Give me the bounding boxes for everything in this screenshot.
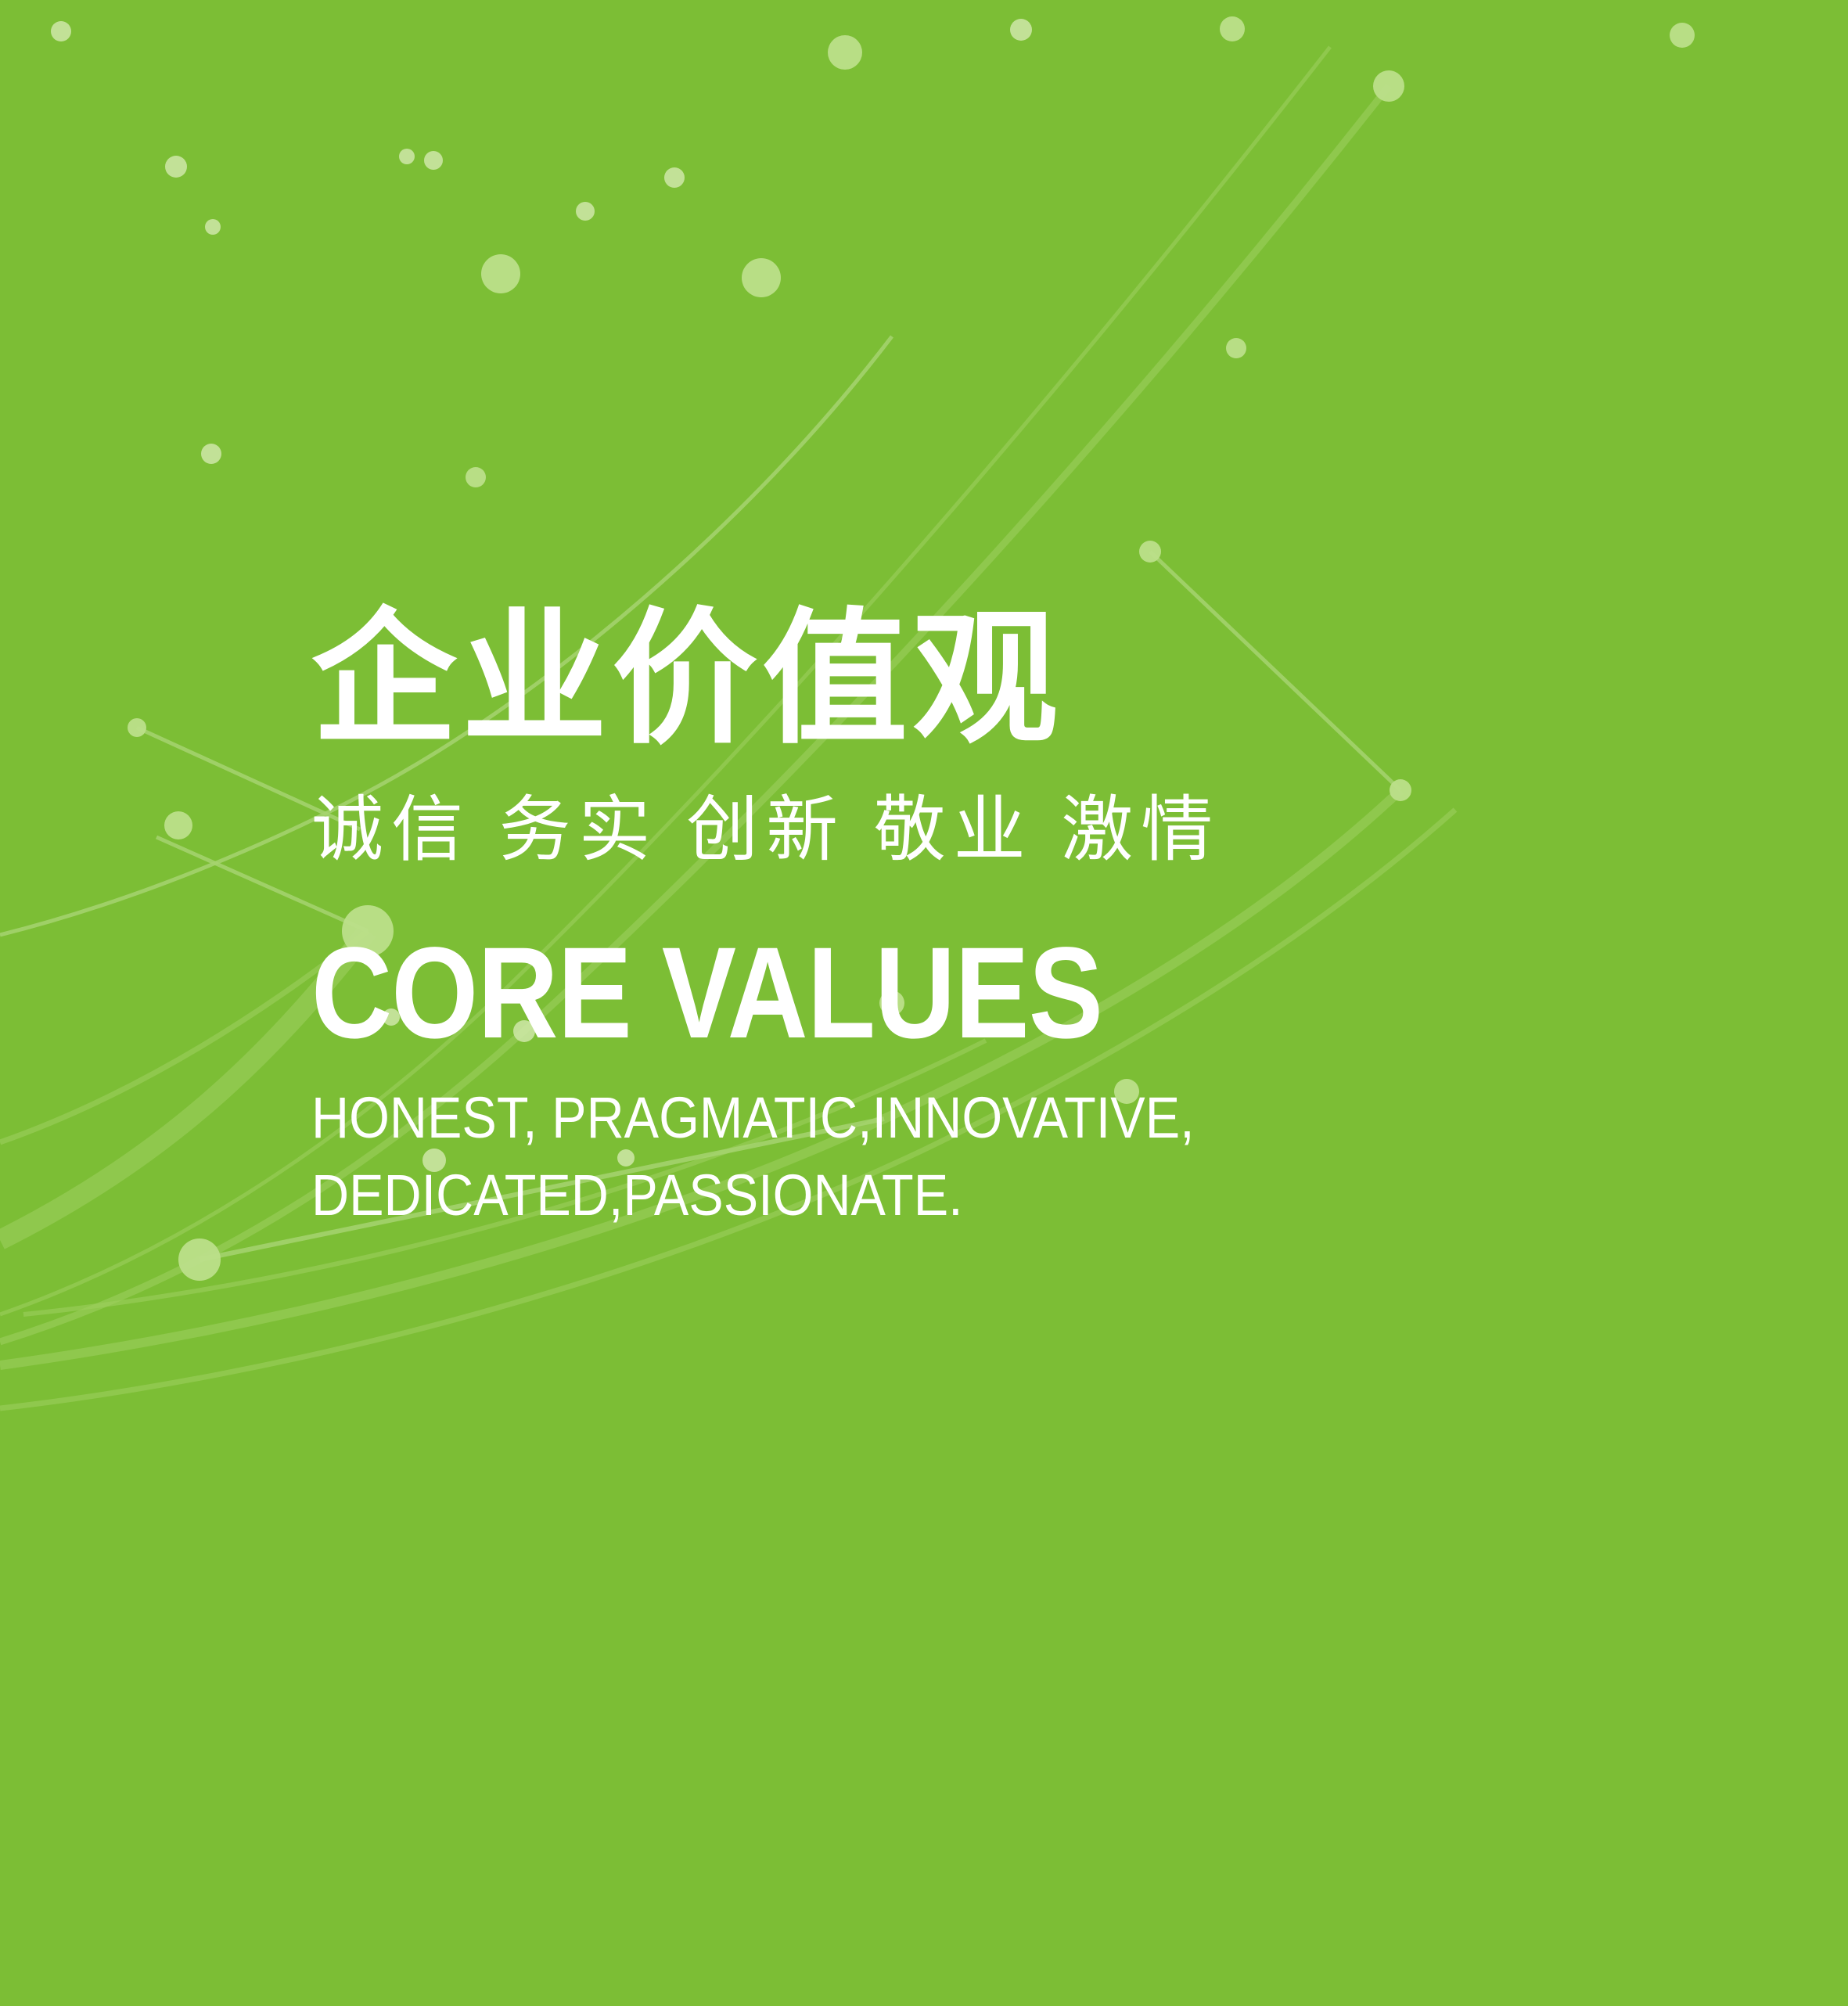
page-title-english: CORE VALUES — [311, 929, 1523, 1059]
page-subtitle-english-line-2: DEDICATED,PASSIONATE. — [311, 1156, 1579, 1234]
text-content-block: 企业价值观 诚信 务实 创新 敬业 激情 CORE VALUES HONEST,… — [311, 602, 1720, 1234]
page-title-chinese: 企业价值观 — [311, 602, 1720, 757]
page-subtitle-chinese: 诚信 务实 创新 敬业 激情 — [311, 789, 1720, 872]
page-subtitle-english: HONEST, PRAGMATIC,INNOVATIVE, DEDICATED,… — [311, 1079, 1579, 1234]
page-subtitle-english-line-1: HONEST, PRAGMATIC,INNOVATIVE, — [311, 1079, 1579, 1156]
core-values-poster: .ln { fill:none; stroke:#a6d470; stroke-… — [0, 0, 1848, 2006]
